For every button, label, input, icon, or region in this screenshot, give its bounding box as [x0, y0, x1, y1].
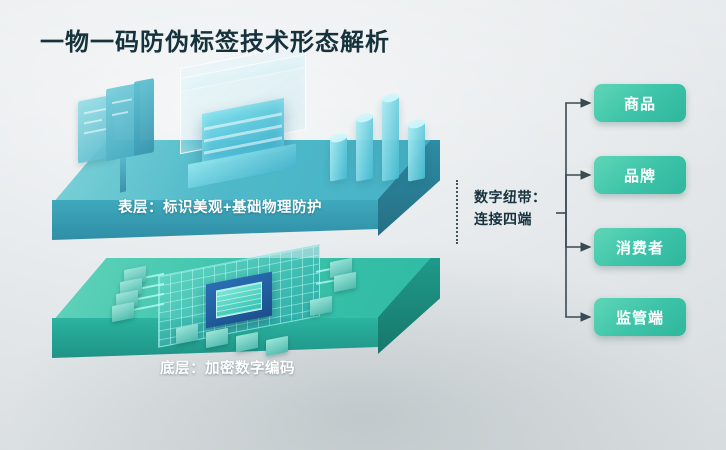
chip-assembly	[130, 250, 380, 360]
node-regulator[interactable]: 监管端	[594, 298, 686, 336]
node-product-label: 商品	[624, 93, 656, 114]
chip-pin	[236, 332, 258, 352]
node-product[interactable]: 商品	[594, 84, 686, 122]
bar-chart-group	[330, 70, 440, 180]
connector-label: 数字纽带： 连接四端	[474, 186, 547, 230]
connector-label-line1: 数字纽带：	[474, 186, 547, 208]
node-brand-label: 品牌	[624, 165, 656, 186]
illustration-canvas: 一物一码防伪标签技术形态解析 表层：标识美观+基础物理防护	[0, 0, 726, 450]
bottom-layer-label: 底层：加密数字编码	[160, 357, 295, 378]
chip-pin	[310, 296, 332, 316]
bar-2	[356, 116, 373, 181]
glass-cube-structure	[176, 66, 316, 191]
connector-spine	[456, 180, 458, 244]
panel-stand	[120, 157, 126, 192]
chip-pin	[266, 336, 288, 356]
bar-4	[408, 122, 425, 181]
label-panels-group	[74, 80, 174, 180]
node-regulator-label: 监管端	[616, 307, 664, 328]
bar-1	[330, 136, 347, 181]
node-brand[interactable]: 品牌	[594, 156, 686, 194]
page-title: 一物一码防伪标签技术形态解析	[40, 22, 390, 57]
chip-pin	[176, 324, 198, 344]
connector-label-line2: 连接四端	[474, 208, 547, 230]
chip-pin	[334, 272, 356, 292]
top-layer-label: 表层：标识美观+基础物理防护	[118, 196, 322, 217]
bar-3	[382, 96, 399, 181]
chip-core-inner	[216, 282, 262, 319]
chip-pin	[112, 302, 134, 322]
panel-front	[134, 78, 154, 156]
node-consumer-label: 消费者	[616, 237, 664, 258]
node-consumer[interactable]: 消费者	[594, 228, 686, 266]
chip-pin	[206, 328, 228, 348]
